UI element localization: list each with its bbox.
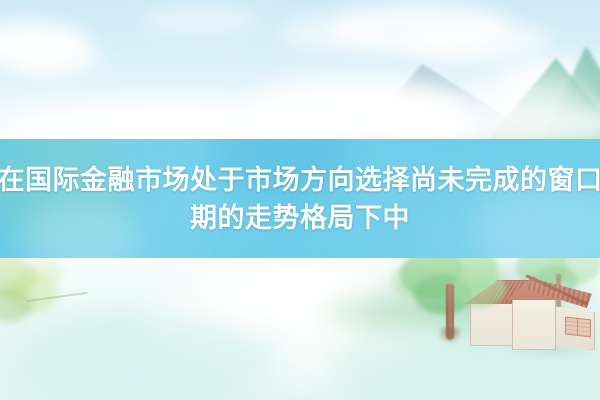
tree-crown [452, 270, 506, 308]
leaf-branch-icon [0, 258, 92, 334]
headline-band: 在国际金融市场处于市场方向选择尚未完成的窗口 期的走势格局下中 [0, 139, 600, 258]
tree-trunk-base [438, 328, 462, 344]
ground-background [0, 258, 600, 400]
headline-text: 在国际金融市场处于市场方向选择尚未完成的窗口 期的走势格局下中 [0, 139, 600, 258]
house-window-icon [565, 317, 591, 338]
leaf-cluster [30, 258, 64, 284]
banner-image: 在国际金融市场处于市场方向选择尚未完成的窗口 期的走势格局下中 [0, 0, 600, 400]
house-window-mullion [577, 319, 578, 336]
headline-line-1: 在国际金融市场处于市场方向选择尚未完成的窗口 [0, 161, 600, 199]
house-front-wall [512, 298, 556, 350]
tree-icon [398, 258, 518, 360]
headline-line-2: 期的走势格局下中 [190, 199, 410, 237]
mountain-range [0, 0, 600, 142]
